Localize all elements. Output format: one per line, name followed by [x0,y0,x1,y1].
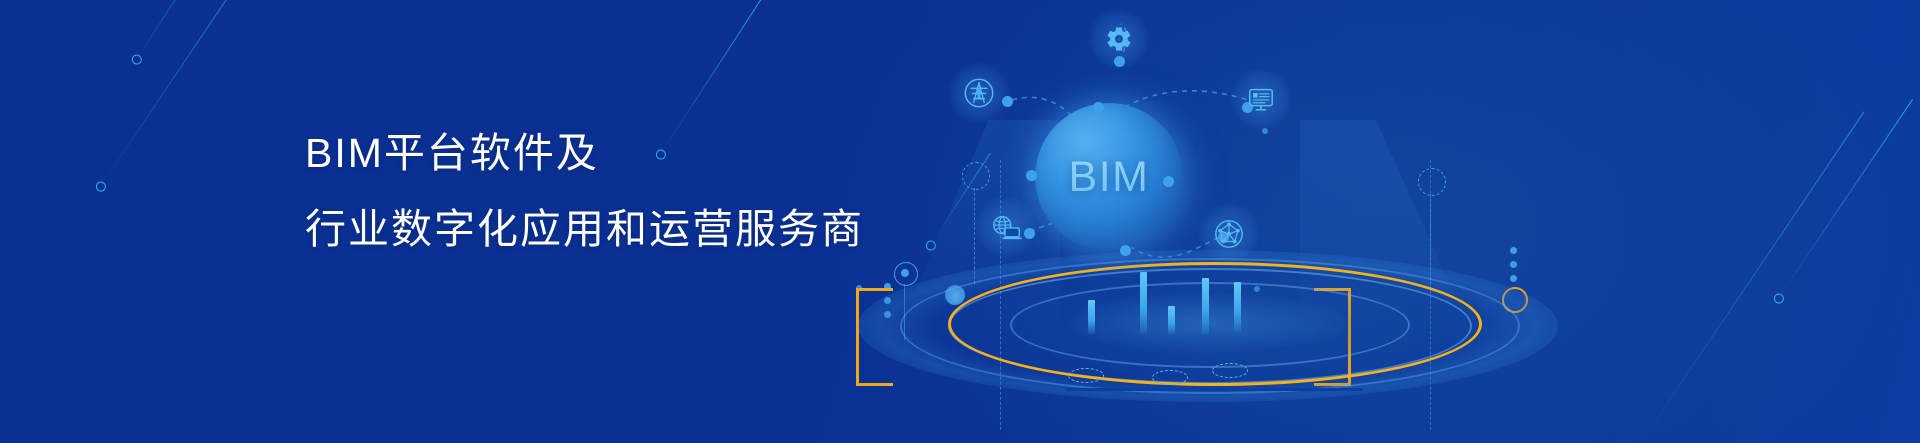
streak-endpoint-circle-icon [94,180,108,194]
dashed-ring-left [962,162,990,190]
dot [1510,261,1517,268]
sphere-node-dot-right [1163,176,1174,187]
node-monitor [1230,68,1292,130]
hero-banner: BIM平台软件及 行业数字化应用和运营服务商 [0,0,1920,443]
data-bar-5 [1234,282,1241,332]
data-bar-2 [1140,272,1147,334]
dashed-ring-right [1418,168,1446,196]
sphere-node-dot-top [1093,102,1104,113]
node-network [1198,203,1260,265]
data-bar-4 [1202,278,1209,334]
dot [1510,275,1517,282]
streak-line-body [1640,111,1865,443]
mini-ellipse-2 [1152,370,1188,385]
sphere-node-dot-left [1026,170,1037,181]
data-bar-3 [1168,306,1175,334]
marker-dot-center-left [901,269,909,277]
streak-line-body [100,0,285,187]
globe-laptop-icon [990,212,1022,242]
node-globe-laptop [975,196,1037,258]
bim-sphere: BIM [1035,103,1183,251]
network-icon [1213,218,1245,250]
sphere-node-dot-bottom [1120,245,1131,256]
data-bar-1 [1088,300,1095,334]
streak-line-body [136,0,219,60]
node-gear [1088,8,1150,70]
streak-endpoint-circle-icon [1772,292,1786,306]
dot-column-right [1510,247,1517,282]
mini-ellipse-1 [1068,368,1104,383]
dot [1510,247,1517,254]
monitor-icon [1246,84,1276,114]
gear-icon [1105,25,1133,53]
streak-endpoint-circle-icon [130,53,144,67]
node-power-tower [948,62,1010,124]
mini-ellipse-3 [1212,363,1248,378]
streak-line-body [1778,99,1913,299]
power-tower-icon [962,76,996,110]
bim-illustration: BIM [830,0,1610,443]
bim-sphere-label: BIM [1035,103,1183,251]
